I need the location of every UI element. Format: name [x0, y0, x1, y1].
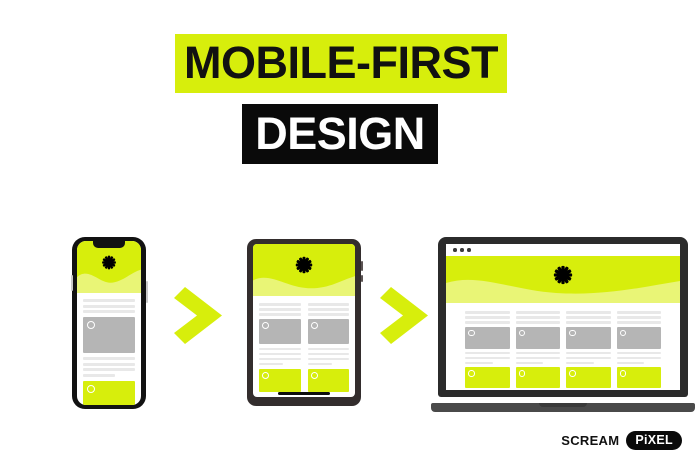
laptop-content — [446, 303, 680, 388]
text-line — [259, 353, 301, 356]
text-line — [259, 348, 301, 351]
text-line — [617, 357, 662, 360]
phone-content — [77, 293, 141, 405]
text-line — [566, 311, 611, 314]
circle-outline-icon — [87, 385, 95, 393]
text-line — [617, 316, 662, 319]
asterisk-icon — [295, 256, 313, 274]
text-line — [617, 362, 645, 365]
tablet-volume-button — [361, 275, 363, 282]
circle-outline-icon — [620, 330, 627, 337]
tablet-column — [308, 303, 350, 392]
circle-outline-icon — [87, 321, 95, 329]
asterisk-icon — [102, 255, 117, 270]
laptop-base — [431, 403, 695, 412]
text-line — [516, 362, 544, 365]
text-line — [566, 321, 611, 324]
text-line — [83, 357, 135, 360]
text-line — [308, 308, 350, 311]
circle-outline-icon — [262, 322, 269, 329]
text-line — [83, 305, 135, 308]
text-line — [516, 352, 561, 355]
tablet-power-button — [361, 261, 363, 271]
text-line — [259, 308, 301, 311]
tablet-column — [259, 303, 301, 392]
device-mockup-phone — [72, 237, 146, 409]
card-promo[interactable] — [308, 369, 350, 392]
title-banner-primary: MOBILE-FIRST — [175, 34, 507, 93]
phone-hero — [77, 241, 141, 293]
card-image[interactable] — [308, 319, 350, 344]
circle-outline-icon — [262, 372, 269, 379]
text-line — [566, 316, 611, 319]
card-image[interactable] — [516, 327, 561, 349]
brand-logo-pill: PiXEL — [626, 431, 682, 451]
device-mockup-laptop — [431, 237, 695, 412]
card-promo[interactable] — [516, 367, 561, 388]
tablet-home-indicator — [278, 392, 330, 395]
phone-power-button — [146, 281, 148, 303]
device-mockup-tablet — [247, 239, 361, 406]
poster-canvas: MOBILE-FIRST DESIGN — [0, 0, 700, 462]
text-line — [308, 353, 350, 356]
card-image[interactable] — [465, 327, 510, 349]
text-line — [259, 313, 301, 316]
text-line — [308, 348, 350, 351]
laptop-column — [516, 311, 561, 388]
circle-outline-icon — [519, 330, 526, 337]
phone-volume-button — [71, 275, 73, 291]
laptop-base-notch — [539, 403, 587, 407]
title-banner-secondary: DESIGN — [242, 104, 438, 164]
circle-outline-icon — [468, 330, 475, 337]
card-promo[interactable] — [259, 369, 301, 392]
text-line — [83, 310, 135, 313]
card-promo[interactable] — [566, 367, 611, 388]
text-line — [516, 357, 561, 360]
laptop-hero — [446, 256, 680, 303]
circle-outline-icon — [311, 322, 318, 329]
text-line — [259, 358, 301, 361]
text-line — [465, 362, 493, 365]
text-line — [516, 311, 561, 314]
laptop-column — [617, 311, 662, 388]
card-image[interactable] — [617, 327, 662, 349]
laptop-column — [465, 311, 510, 388]
text-line — [516, 316, 561, 319]
card-image[interactable] — [259, 319, 301, 344]
text-line — [83, 299, 135, 302]
text-line — [617, 311, 662, 314]
tablet-content — [253, 296, 355, 392]
text-line — [516, 321, 561, 324]
phone-notch — [93, 241, 125, 248]
text-line — [465, 321, 510, 324]
circle-outline-icon — [569, 330, 576, 337]
text-line — [566, 362, 594, 365]
card-promo[interactable] — [83, 381, 135, 405]
card-image[interactable] — [566, 327, 611, 349]
text-line — [465, 357, 510, 360]
circle-outline-icon — [311, 372, 318, 379]
circle-outline-icon — [620, 370, 627, 377]
asterisk-icon — [553, 265, 573, 285]
text-line — [308, 303, 350, 306]
text-line — [83, 363, 135, 366]
browser-dot-maximize-icon[interactable] — [467, 248, 471, 252]
card-promo[interactable] — [617, 367, 662, 388]
laptop-lid — [438, 237, 688, 397]
title-text-secondary: DESIGN — [255, 111, 425, 156]
browser-chrome-bar — [446, 244, 680, 256]
text-line — [83, 368, 135, 371]
text-line — [83, 374, 115, 377]
text-line — [617, 352, 662, 355]
circle-outline-icon — [569, 370, 576, 377]
text-line — [465, 316, 510, 319]
text-line — [308, 358, 350, 361]
brand-logo-word: SCREAM — [561, 433, 619, 448]
browser-dot-close-icon[interactable] — [453, 248, 457, 252]
text-line — [308, 313, 350, 316]
text-line — [259, 303, 301, 306]
tablet-hero — [253, 244, 355, 296]
circle-outline-icon — [468, 370, 475, 377]
tablet-screen — [253, 244, 355, 397]
text-line — [465, 311, 510, 314]
card-promo[interactable] — [465, 367, 510, 388]
circle-outline-icon — [519, 370, 526, 377]
arrow-phone-to-tablet — [172, 285, 224, 346]
text-line — [465, 352, 510, 355]
laptop-screen — [446, 244, 680, 390]
text-line — [617, 321, 662, 324]
phone-screen — [77, 241, 141, 405]
card-image[interactable] — [83, 317, 135, 353]
arrow-tablet-to-laptop — [378, 285, 430, 346]
browser-dot-minimize-icon[interactable] — [460, 248, 464, 252]
text-line — [566, 357, 611, 360]
laptop-column — [566, 311, 611, 388]
text-line — [259, 363, 283, 366]
text-line — [308, 363, 332, 366]
text-line — [566, 352, 611, 355]
brand-logo: SCREAM PiXEL — [561, 431, 682, 451]
title-text-primary: MOBILE-FIRST — [184, 40, 498, 85]
